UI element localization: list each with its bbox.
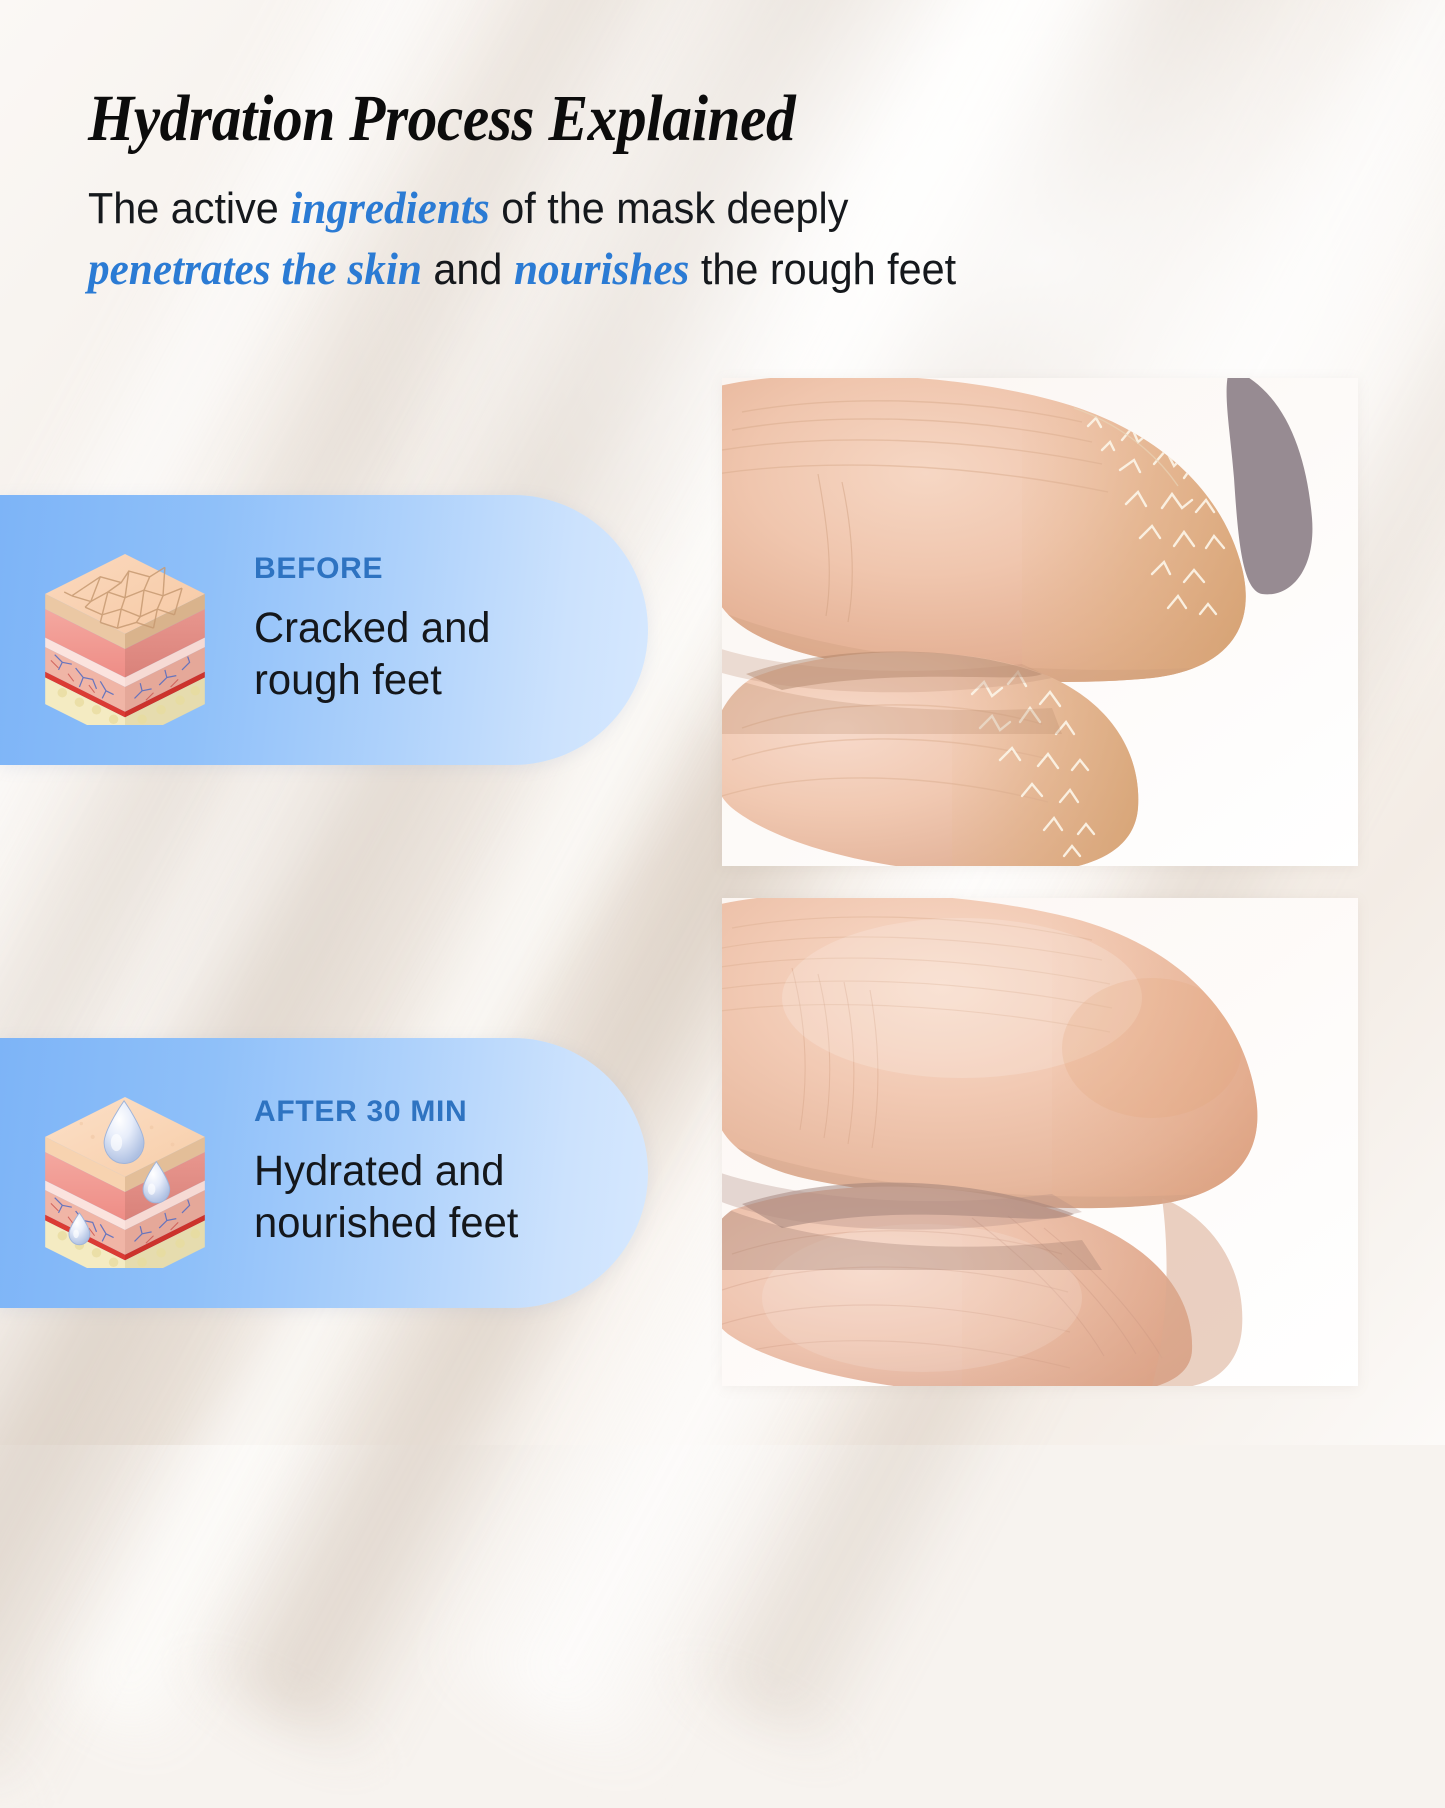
before-description: Cracked and rough feet [254,602,490,707]
header: Hydration Process Explained The active i… [88,84,1108,299]
cracked-heels-photo [722,378,1358,866]
subtitle-text: The active [88,184,290,233]
after-description: Hydrated and nourished feet [254,1145,518,1250]
page-title: Hydration Process Explained [88,84,1006,154]
before-label: BEFORE [254,554,498,584]
smooth-heels-photo [722,898,1358,1386]
subtitle-highlight-nourishes: nourishes [514,243,689,294]
before-card: BEFORE Cracked and rough feet [0,495,648,765]
subtitle-highlight-penetrates: penetrates the skin [88,243,422,294]
after-card-text: AFTER 30 MIN Hydrated and nourished feet [250,1097,527,1250]
subtitle-highlight-ingredients: ingredients [290,182,489,233]
subtitle-text: and [422,245,514,294]
before-card-text: BEFORE Cracked and rough feet [250,554,498,707]
after-card: AFTER 30 MIN Hydrated and nourished feet [0,1038,648,1308]
cracked-skin-cross-section-icon [0,535,250,725]
subtitle-text: the rough feet [689,245,956,294]
hydrated-skin-cross-section-icon [0,1078,250,1268]
subtitle-text: of the mask deeply [490,184,849,233]
page-subtitle: The active ingredients of the mask deepl… [88,178,1047,299]
after-label: AFTER 30 MIN [254,1097,527,1127]
